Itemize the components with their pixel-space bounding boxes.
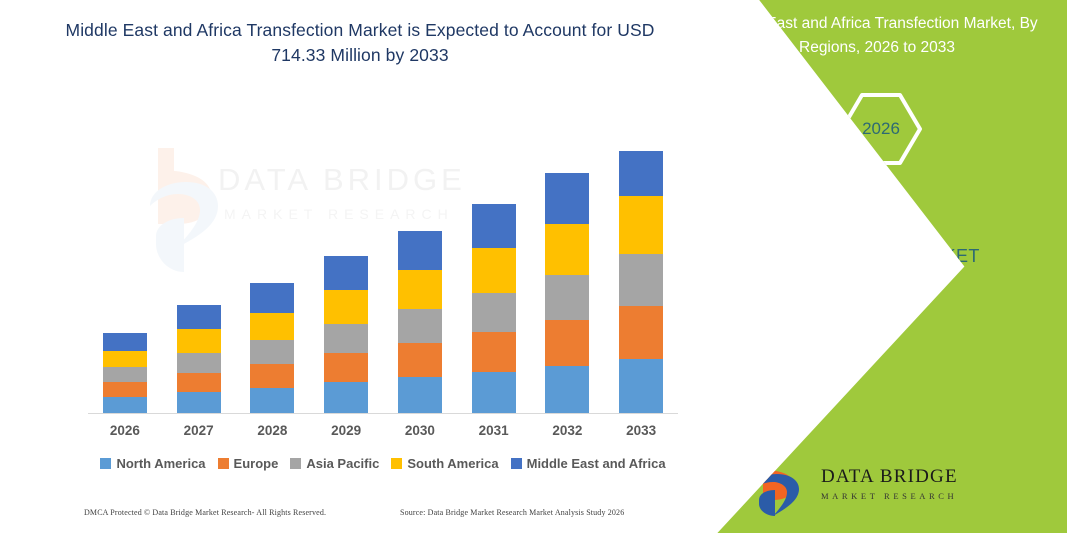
- bar-segment: [177, 305, 221, 329]
- green-side-panel: Middle East and Africa Transfection Mark…: [687, 0, 1067, 533]
- legend-item-europe[interactable]: Europe: [218, 456, 279, 471]
- brand-name: DATA BRIDGE MARKET RESEARCH: [729, 243, 1025, 297]
- bar-segment: [103, 351, 147, 367]
- x-label-2033: 2033: [606, 423, 676, 438]
- logo-title: DATA BRIDGE: [821, 466, 1021, 488]
- bar-segment: [545, 366, 589, 413]
- bar-segment: [472, 332, 516, 372]
- bar-2033: [619, 151, 663, 413]
- bar-segment: [103, 367, 147, 382]
- x-label-2027: 2027: [164, 423, 234, 438]
- hexagon-2026: 2026: [839, 92, 923, 166]
- bar-segment: [250, 340, 294, 364]
- x-label-2026: 2026: [90, 423, 160, 438]
- chart-legend: North AmericaEuropeAsia PacificSouth Ame…: [88, 452, 678, 474]
- x-label-2029: 2029: [311, 423, 381, 438]
- bar-segment: [177, 353, 221, 373]
- hexagon-2033-label: 2033: [794, 147, 836, 169]
- bar-2032: [545, 173, 589, 413]
- panel-title: Middle East and Africa Transfection Mark…: [713, 12, 1041, 60]
- page-title: Middle East and Africa Transfection Mark…: [60, 18, 660, 68]
- bar-segment: [472, 204, 516, 248]
- bar-segment: [324, 256, 368, 290]
- legend-label: South America: [407, 456, 498, 471]
- legend-swatch-icon: [290, 458, 301, 469]
- legend-swatch-icon: [218, 458, 229, 469]
- legend-item-south-america[interactable]: South America: [391, 456, 498, 471]
- bar-segment: [472, 248, 516, 293]
- logo-text: DATA BRIDGE MARKET RESEARCH: [821, 466, 1021, 501]
- bar-segment: [324, 290, 368, 324]
- x-label-2031: 2031: [459, 423, 529, 438]
- bar-segment: [177, 373, 221, 392]
- stacked-bar-plot: [88, 130, 678, 413]
- bar-segment: [324, 353, 368, 382]
- legend-label: Asia Pacific: [306, 456, 379, 471]
- company-logo: DATA BRIDGE MARKET RESEARCH: [749, 458, 1029, 520]
- hexagon-outline-icon: [761, 110, 869, 206]
- legend-item-asia-pacific[interactable]: Asia Pacific: [290, 456, 379, 471]
- bar-segment: [103, 333, 147, 351]
- bar-segment: [398, 309, 442, 343]
- bar-segment: [103, 397, 147, 413]
- bar-2029: [324, 256, 368, 413]
- bar-segment: [103, 382, 147, 397]
- hexagon-2033: 2033: [761, 110, 869, 206]
- bar-segment: [250, 388, 294, 413]
- x-axis-tick-labels: 20262027202820292030203120322033: [88, 423, 678, 445]
- bar-segment: [619, 151, 663, 196]
- bar-segment: [324, 382, 368, 413]
- bar-segment: [619, 359, 663, 413]
- legend-item-north-america[interactable]: North America: [100, 456, 205, 471]
- bar-segment: [545, 320, 589, 366]
- copyright-text: DMCA Protected © Data Bridge Market Rese…: [84, 508, 326, 517]
- bar-segment: [472, 372, 516, 413]
- legend-swatch-icon: [511, 458, 522, 469]
- bar-segment: [619, 254, 663, 306]
- bar-segment: [324, 324, 368, 353]
- bar-segment: [398, 270, 442, 309]
- data-bridge-logo-icon: [749, 458, 815, 518]
- bar-segment: [177, 392, 221, 413]
- bar-segment: [177, 329, 221, 353]
- bar-segment: [545, 173, 589, 224]
- x-axis-line: [88, 413, 678, 414]
- legend-item-middle-east-and-africa[interactable]: Middle East and Africa: [511, 456, 666, 471]
- bar-segment: [398, 231, 442, 270]
- legend-swatch-icon: [391, 458, 402, 469]
- bar-segment: [398, 377, 442, 413]
- bar-segment: [250, 313, 294, 340]
- x-label-2030: 2030: [385, 423, 455, 438]
- infographic-root: Middle East and Africa Transfection Mark…: [0, 0, 1067, 533]
- legend-label: Middle East and Africa: [527, 456, 666, 471]
- logo-subtitle: MARKET RESEARCH: [821, 491, 1021, 501]
- x-label-2032: 2032: [532, 423, 602, 438]
- bar-2030: [398, 231, 442, 413]
- bar-segment: [250, 364, 294, 388]
- bar-segment: [619, 306, 663, 359]
- bar-segment: [250, 283, 294, 313]
- hexagon-group: 2033 2026: [749, 92, 989, 212]
- bar-2031: [472, 204, 516, 413]
- source-text: Source: Data Bridge Market Research Mark…: [400, 508, 624, 517]
- hexagon-2026-label: 2026: [862, 119, 900, 139]
- bar-segment: [619, 196, 663, 254]
- bar-segment: [545, 224, 589, 275]
- x-label-2028: 2028: [237, 423, 307, 438]
- legend-label: Europe: [234, 456, 279, 471]
- legend-swatch-icon: [100, 458, 111, 469]
- bar-2026: [103, 333, 147, 413]
- bar-segment: [545, 275, 589, 320]
- bar-segment: [398, 343, 442, 377]
- bar-2027: [177, 305, 221, 413]
- chart-panel: Middle East and Africa Transfection Mark…: [0, 0, 706, 533]
- bar-segment: [472, 293, 516, 332]
- bar-2028: [250, 283, 294, 413]
- legend-label: North America: [116, 456, 205, 471]
